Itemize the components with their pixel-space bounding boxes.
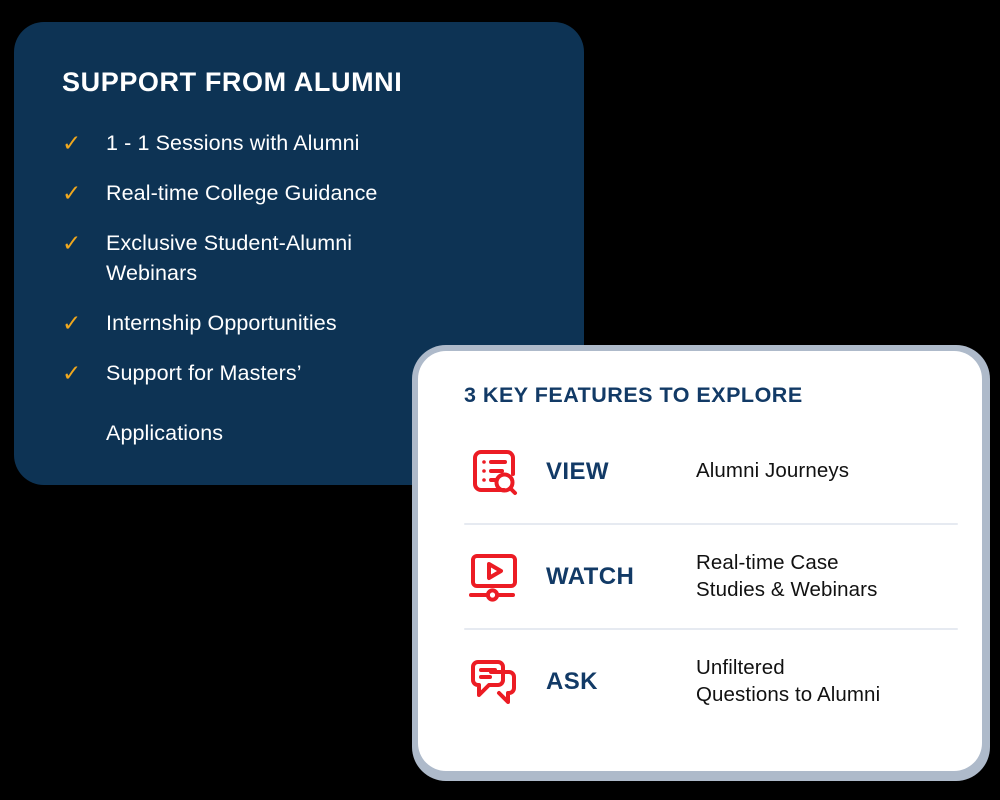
check-icon: ✓ <box>62 128 92 158</box>
feature-label: WATCH <box>546 563 696 591</box>
feature-row-view[interactable]: VIEW Alumni Journeys <box>464 420 948 523</box>
list-item: ✓ Internship Opportunities <box>62 308 544 338</box>
check-icon: ✓ <box>62 308 92 338</box>
list-item-label-wrapped: Support for Masters’ Applications <box>106 358 302 448</box>
list-item-label: Support for Masters’ <box>106 361 302 385</box>
feature-description-line1: Real-time Case <box>696 550 948 576</box>
list-item-label: Internship Opportunities <box>106 308 337 338</box>
feature-description: Real-time Case Studies & Webinars <box>696 550 948 602</box>
list-item: ✓ Real-time College Guidance <box>62 178 544 208</box>
feature-row-ask[interactable]: ASK Unfiltered Questions to Alumni <box>464 630 948 733</box>
feature-description: Unfiltered Questions to Alumni <box>696 655 948 707</box>
feature-description-line2: Questions to Alumni <box>696 682 948 708</box>
key-features-title: 3 KEY FEATURES TO EXPLORE <box>464 383 948 408</box>
list-item: ✓ 1 - 1 Sessions with Alumni <box>62 128 544 158</box>
feature-label: ASK <box>546 668 696 696</box>
feature-row-watch[interactable]: WATCH Real-time Case Studies & Webinars <box>464 525 948 628</box>
list-search-icon <box>464 442 524 502</box>
feature-description-line2: Studies & Webinars <box>696 577 948 603</box>
support-card-title: SUPPORT FROM ALUMNI <box>62 68 544 98</box>
list-item-label: Exclusive Student-Alumni Webinars <box>106 228 436 288</box>
list-item-label-continuation: Applications <box>106 418 302 448</box>
feature-label: VIEW <box>546 458 696 486</box>
key-features-card-body: 3 KEY FEATURES TO EXPLORE <box>418 351 982 771</box>
chat-bubbles-icon <box>464 652 524 712</box>
check-icon: ✓ <box>62 178 92 208</box>
list-item-label: Real-time College Guidance <box>106 178 378 208</box>
feature-description-line1: Alumni Journeys <box>696 459 849 482</box>
key-features-card: 3 KEY FEATURES TO EXPLORE <box>412 345 990 781</box>
list-item: ✓ Exclusive Student-Alumni Webinars <box>62 228 544 288</box>
list-item-label: 1 - 1 Sessions with Alumni <box>106 128 360 158</box>
check-icon: ✓ <box>62 228 92 258</box>
check-icon: ✓ <box>62 358 92 388</box>
feature-description-line1: Unfiltered <box>696 655 948 681</box>
video-play-icon <box>464 547 524 607</box>
poster-canvas: SUPPORT FROM ALUMNI ✓ 1 - 1 Sessions wit… <box>0 0 1000 800</box>
feature-description: Alumni Journeys <box>696 458 948 484</box>
